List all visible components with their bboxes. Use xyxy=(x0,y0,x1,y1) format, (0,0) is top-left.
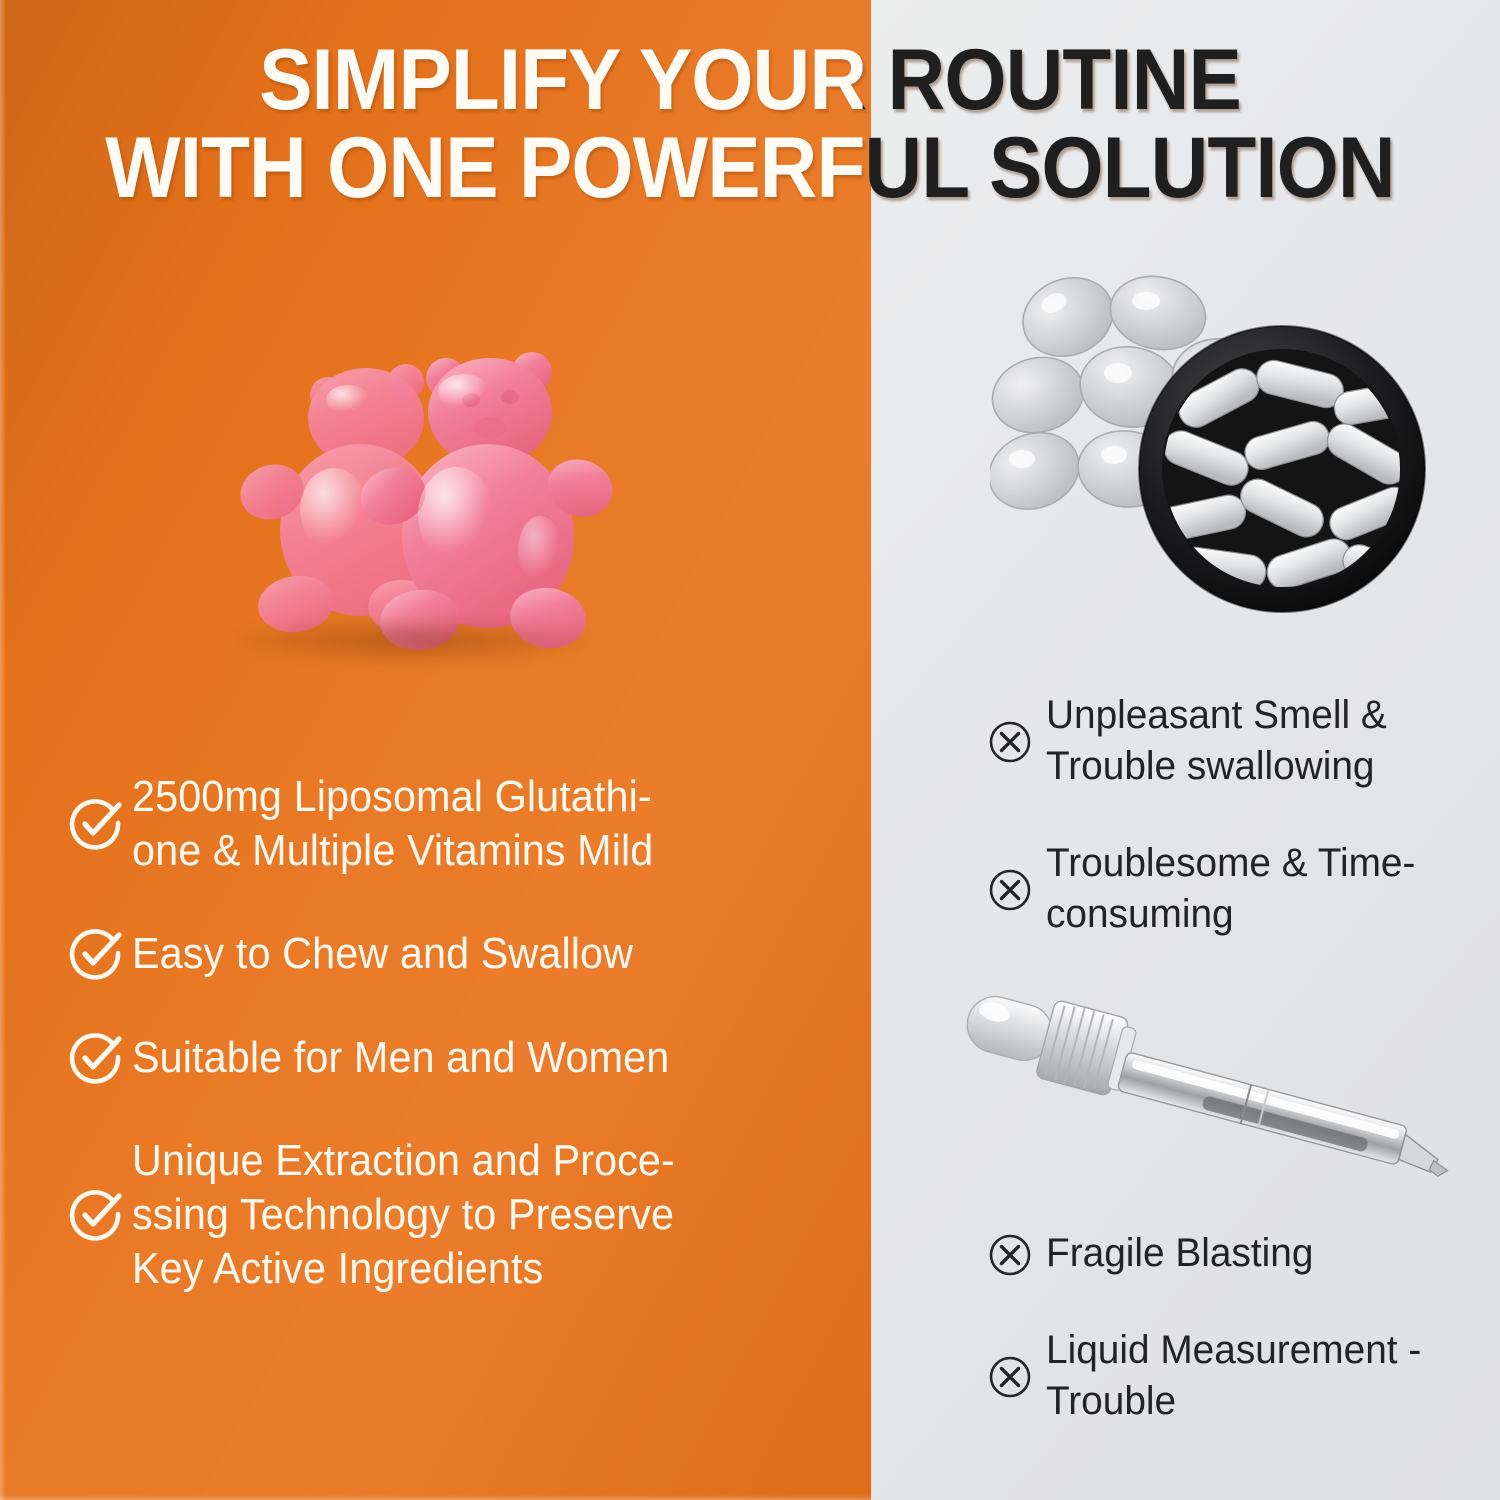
gummy-bears-image xyxy=(188,300,628,690)
check-circle-icon xyxy=(66,926,132,982)
gummy-bears-shadow xyxy=(228,618,598,664)
glass-dropper-image xyxy=(950,995,1470,1195)
check-circle-icon xyxy=(66,1030,132,1086)
drawback-label: Liquid Measurement - Trouble xyxy=(1046,1325,1421,1427)
black-bowl-with-capsules-icon xyxy=(1138,325,1426,613)
benefit-item: Suitable for Men and Women xyxy=(66,1030,806,1086)
circle-x-icon xyxy=(988,1353,1046,1399)
drawbacks-list-bottom: Fragile Blasting Liquid Measurement - Tr… xyxy=(988,1228,1488,1427)
benefit-label: Suitable for Men and Women xyxy=(132,1031,669,1085)
drawback-item: Unpleasant Smell & Trouble swallowing xyxy=(988,690,1488,792)
circle-x-icon xyxy=(988,718,1046,764)
page-title: SIMPLIFY YOUR ROUTINE WITH ONE POWERFUL … xyxy=(53,36,1448,206)
benefit-label: Unique Extraction and Proce- ssing Techn… xyxy=(132,1134,675,1296)
check-circle-icon xyxy=(66,796,132,852)
drawback-label: Troublesome & Time- consuming xyxy=(1046,838,1415,940)
benefits-list: 2500mg Liposomal Glutathi- one & Multipl… xyxy=(66,770,806,1296)
dropper-pipette-icon xyxy=(950,995,1470,1195)
capsules-bowl-image xyxy=(990,255,1430,615)
benefit-item: 2500mg Liposomal Glutathi- one & Multipl… xyxy=(66,770,806,878)
benefit-item: Unique Extraction and Proce- ssing Techn… xyxy=(66,1134,806,1296)
circle-x-icon xyxy=(988,1231,1046,1277)
check-circle-icon xyxy=(66,1187,132,1243)
drawback-item: Fragile Blasting xyxy=(988,1228,1488,1279)
benefit-item: Easy to Chew and Swallow xyxy=(66,926,806,982)
comparison-infographic: SIMPLIFY YOUR ROUTINE WITH ONE POWERFUL … xyxy=(0,0,1500,1500)
benefit-label: Easy to Chew and Swallow xyxy=(132,927,633,981)
drawbacks-list-top: Unpleasant Smell & Trouble swallowing Tr… xyxy=(988,690,1488,940)
circle-x-icon xyxy=(988,866,1046,912)
drawback-item: Liquid Measurement - Trouble xyxy=(988,1325,1488,1427)
drawback-label: Unpleasant Smell & Trouble swallowing xyxy=(1046,690,1387,792)
benefit-label: 2500mg Liposomal Glutathi- one & Multipl… xyxy=(132,770,653,878)
drawback-item: Troublesome & Time- consuming xyxy=(988,838,1488,940)
drawback-label: Fragile Blasting xyxy=(1046,1228,1313,1279)
